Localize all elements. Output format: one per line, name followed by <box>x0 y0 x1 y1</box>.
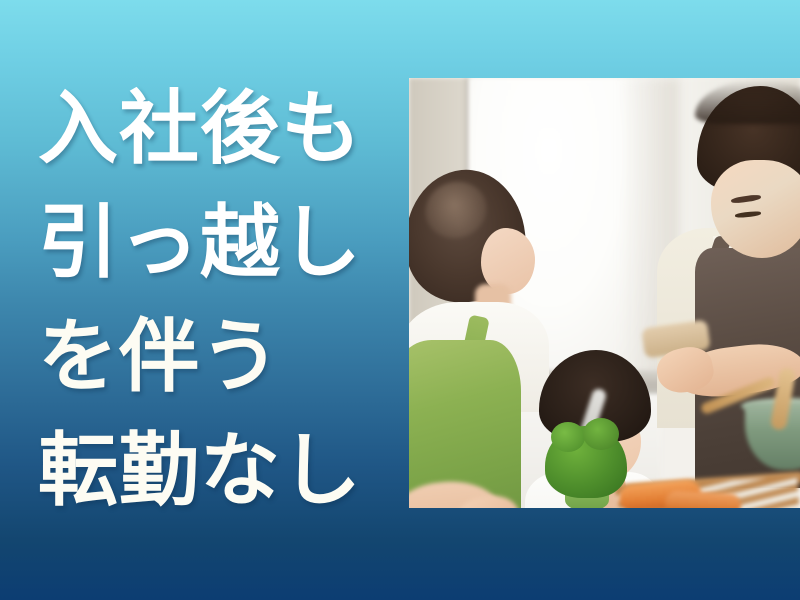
family-cooking-photo <box>409 78 800 508</box>
broccoli-floret-b <box>583 418 619 450</box>
headline-line-4: 転勤なし <box>38 414 394 528</box>
headline-line-1: 入社後も <box>38 72 394 186</box>
headline-line-3: を伴う <box>38 300 394 414</box>
broccoli-floret-a <box>551 422 585 452</box>
carrot-b <box>664 490 741 508</box>
recruitment-banner: 入社後も 引っ越し を伴う 転勤なし <box>0 0 800 600</box>
headline-block: 入社後も 引っ越し を伴う 転勤なし <box>38 72 394 528</box>
headline-line-2: 引っ越し <box>38 186 394 300</box>
